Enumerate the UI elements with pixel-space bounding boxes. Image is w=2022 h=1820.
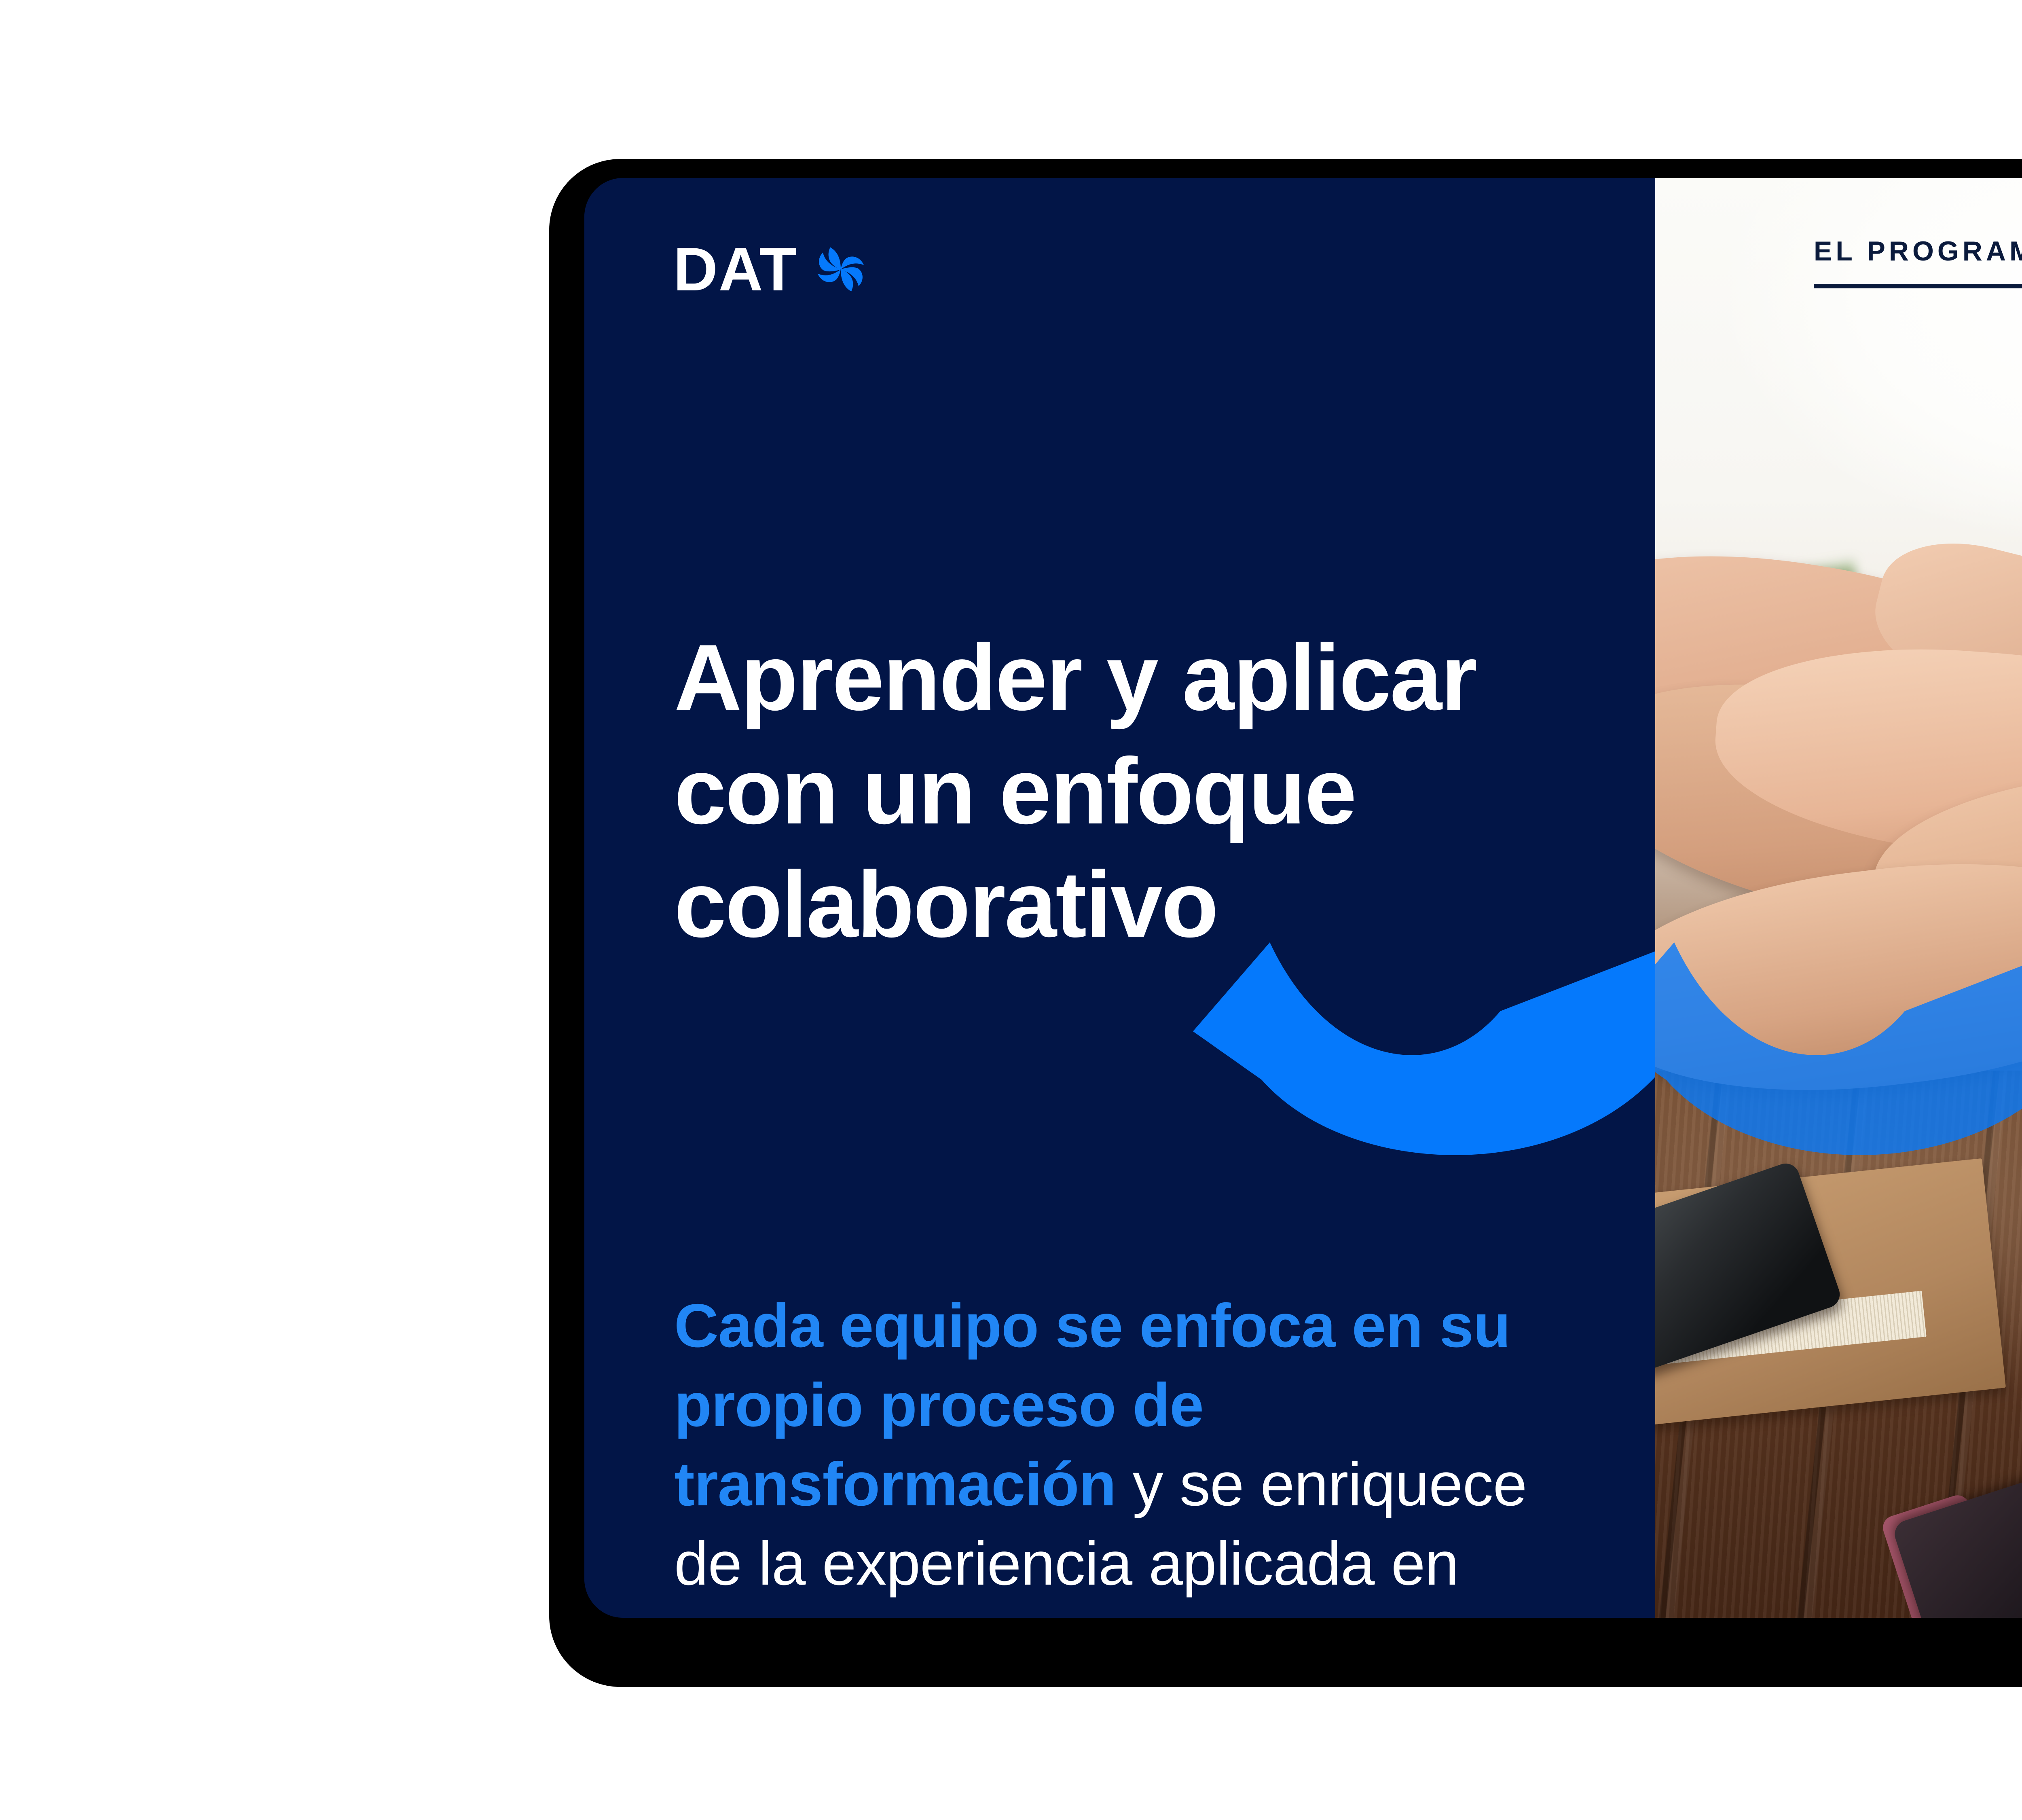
hero-right-photo-panel: EL PROGRAMA ADMISIÓN CONTACTO [1655, 178, 2022, 1618]
pinwheel-icon [814, 243, 867, 296]
page-title: Aprender y aplicar con un enfoque colabo… [674, 621, 1531, 962]
nav-item-el-programa[interactable]: EL PROGRAMA [1814, 235, 2022, 267]
nav-active-underline [1814, 284, 2022, 288]
brand-logo[interactable]: DAT [673, 239, 867, 300]
brand-wordmark: DAT [673, 239, 797, 300]
team-hands-photo [1655, 178, 2022, 1618]
tablet-screen: DAT Aprender y aplicar con un enfoque co… [584, 178, 2022, 1618]
hero-left-panel: DAT Aprender y aplicar con un enfoque co… [584, 178, 1655, 1618]
hero-paragraph: Cada equipo se enfoca en su propio proce… [674, 1286, 1604, 1618]
top-navigation: EL PROGRAMA ADMISIÓN CONTACTO [1655, 178, 2022, 348]
